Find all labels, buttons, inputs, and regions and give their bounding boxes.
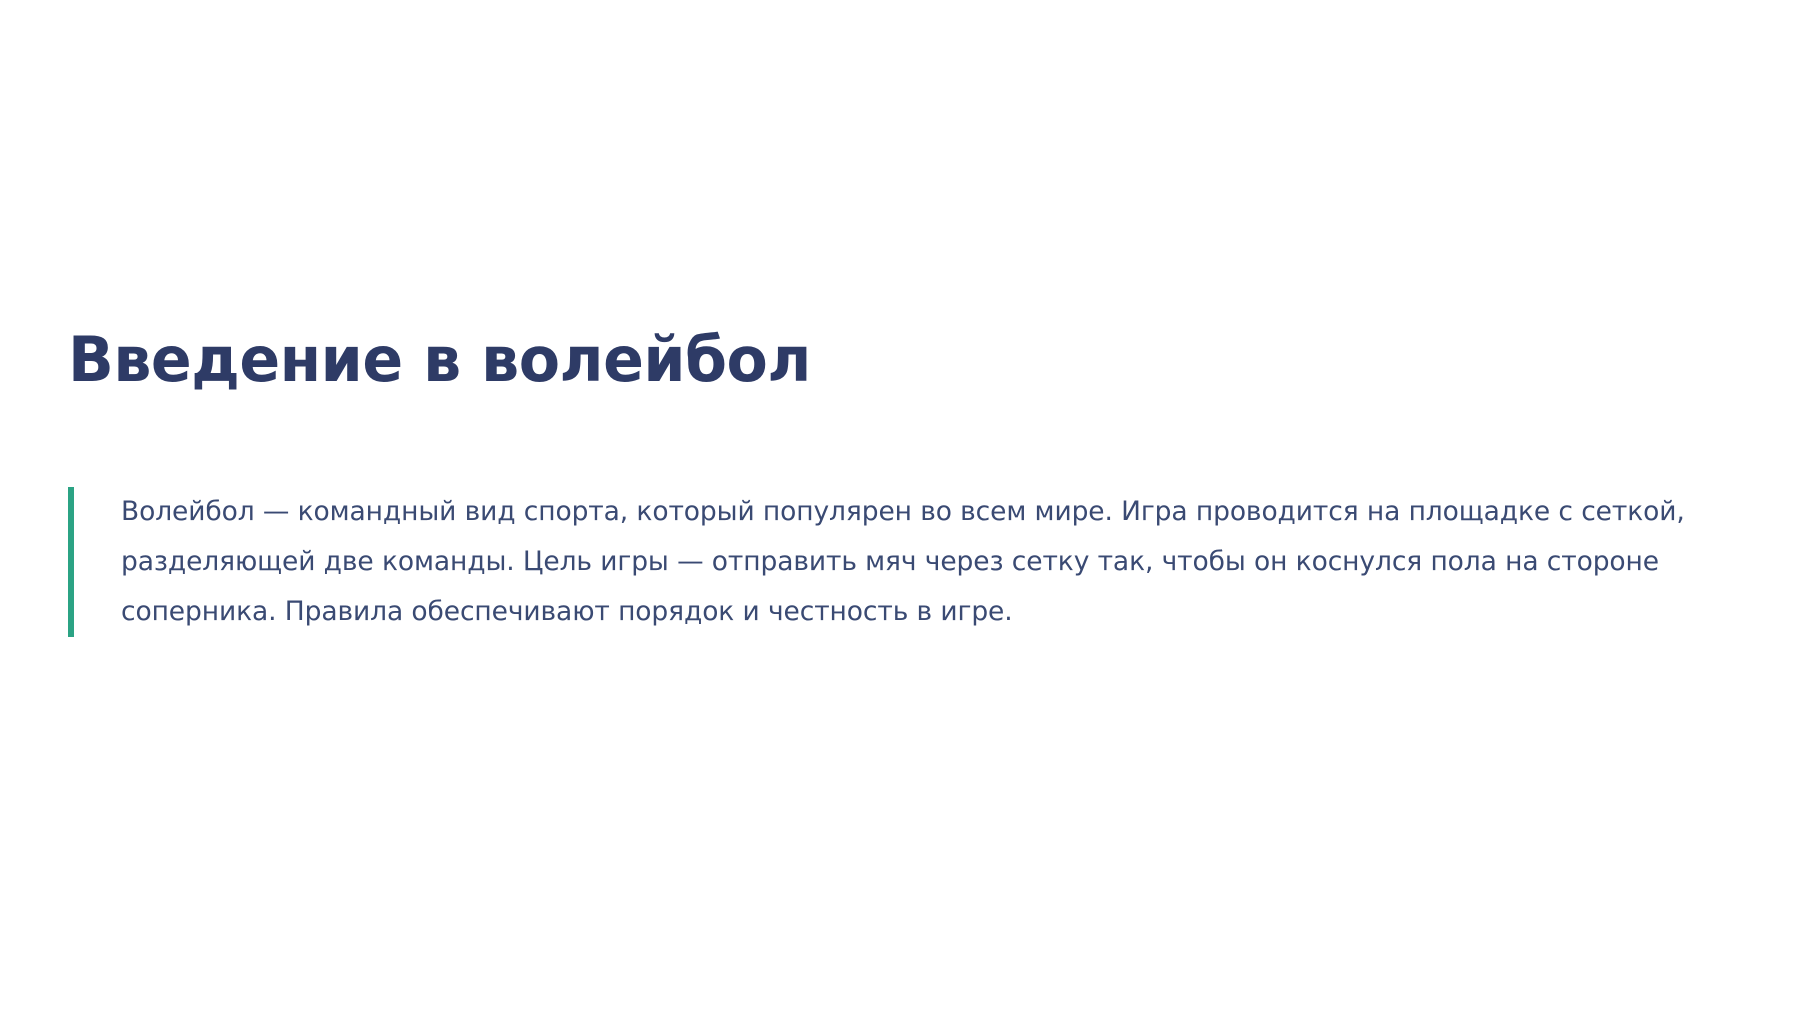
page-title: Введение в волейбол	[68, 327, 1678, 392]
body-block: Волейбол — командный вид спорта, который…	[68, 487, 1758, 637]
body-paragraph: Волейбол — командный вид спорта, который…	[74, 487, 1758, 637]
slide-canvas: Введение в волейбол Волейбол — командный…	[0, 0, 1800, 1013]
